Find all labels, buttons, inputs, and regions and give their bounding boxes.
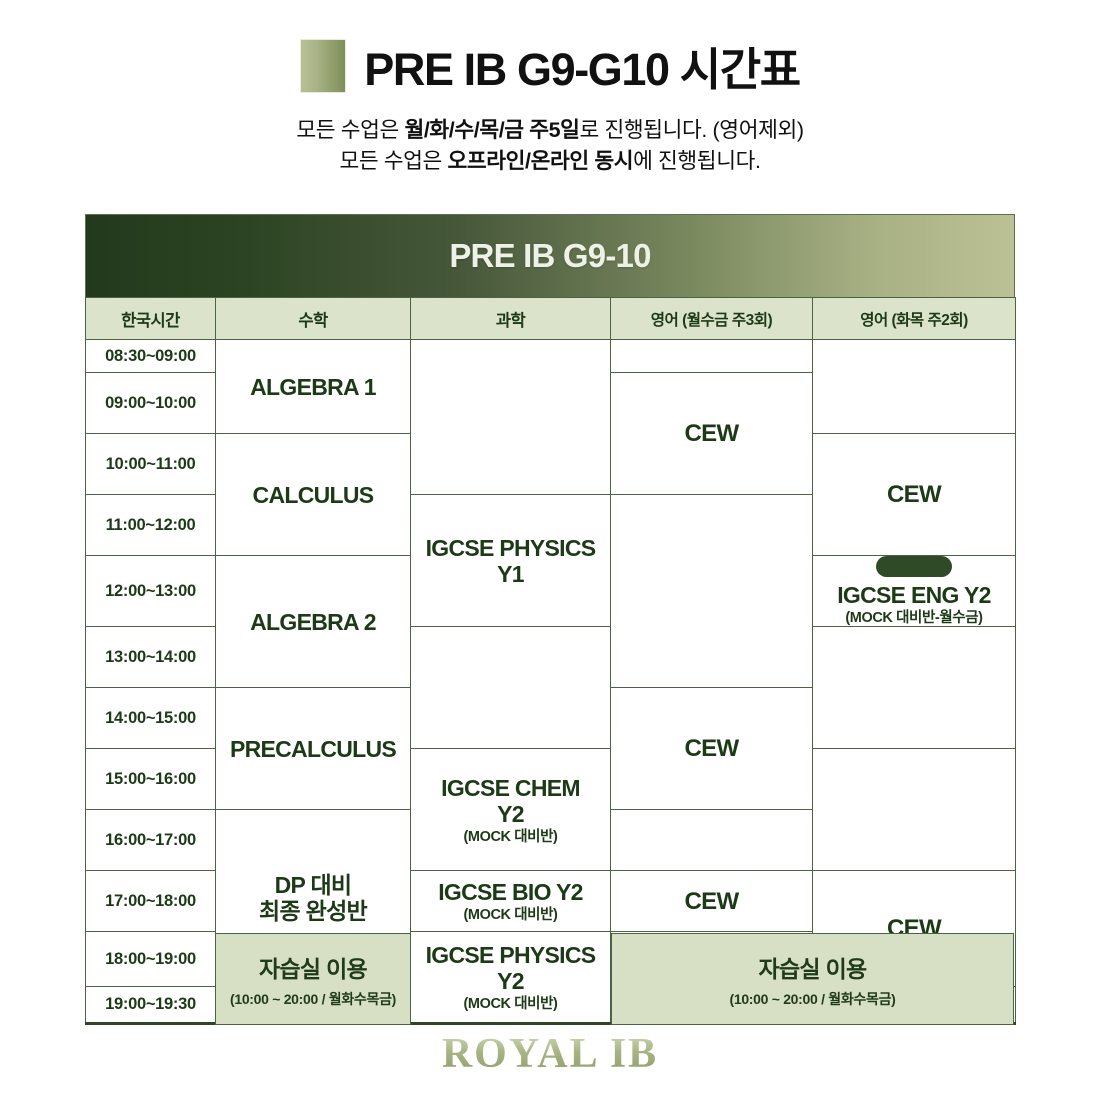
subtitle-1-part-c: 로 진행됩니다. (영어제외) [580,118,804,142]
brand-logo: ROYAL IB [442,1031,658,1077]
time-slot-2: 09:00~10:00 [86,373,216,434]
english-tt-empty-midday [813,627,1016,749]
column-header-english-tt: 영어 (화목 주2회) [813,298,1016,340]
science-physics-y2-line-2: Y2 [497,968,524,994]
time-slot-6: 13:00~14:00 [86,627,216,688]
subtitle-line-2: 모든 수업은 오프라인/온라인 동시에 진행됩니다. [0,146,1100,177]
column-header-time: 한국시간 [86,298,216,340]
subtitle-1-part-a: 모든 수업은 [296,118,404,142]
science-empty-morning [411,340,611,495]
self-study-english-label: 자습실 이용 [759,950,867,984]
page-title-row: PRE IB G9-G10 시간표 [0,0,1100,98]
time-slot-3: 10:00~11:00 [86,434,216,495]
science-empty-midday [411,627,611,749]
math-dp-line-2: 최종 완성반 [259,898,367,924]
time-slot-4: 11:00~12:00 [86,495,216,556]
english-mwf-cew-afternoon[interactable]: CEW [611,688,813,810]
time-slot-5: 12:00~13:00 [86,556,216,627]
english-mwf-cew-evening[interactable]: CEW [611,871,813,932]
science-physics-y2-note: (MOCK 대비반) [411,996,610,1012]
time-slot-7: 14:00~15:00 [86,688,216,749]
math-dp-line-1: DP 대비 [275,872,352,898]
self-study-math-label: 자습실 이용 [259,950,367,984]
logo-square-icon [300,39,346,93]
math-calculus[interactable]: CALCULUS [216,434,411,556]
science-igcse-physics-y1[interactable]: IGCSE PHYSICS Y1 [411,495,611,627]
self-study-math-note: (10:00 ~ 20:00 / 월화수목금) [230,989,396,1009]
science-physics-y1-line-1: IGCSE PHYSICS [426,535,596,561]
english-tt-empty-afternoon [813,749,1016,871]
self-study-english-columns[interactable]: 자습실 이용 (10:00 ~ 20:00 / 월화수목금) [611,933,1014,1025]
column-header-row: 한국시간 수학 과학 영어 (월수금 주3회) 영어 (화목 주2회) [86,298,1016,340]
subtitle-line-1: 모든 수업은 월/화/수/목/금 주5일로 진행됩니다. (영어제외) [0,115,1100,146]
highlight-pill-icon [876,556,952,577]
time-slot-11: 18:00~19:00 [86,932,216,987]
english-tt-igcse-eng-y2[interactable]: IGCSE ENG Y2 (MOCK 대비반-월수금) [813,556,1016,627]
science-bio-y2-note: (MOCK 대비반) [411,907,610,923]
time-slot-8: 15:00~16:00 [86,749,216,810]
science-igcse-physics-y2[interactable]: IGCSE PHYSICS Y2 (MOCK 대비반) [411,932,611,1024]
science-chem-y2-line-2: Y2 [497,801,524,827]
table-row: 08:30~09:00 ALGEBRA 1 [86,340,1016,373]
science-igcse-bio-y2[interactable]: IGCSE BIO Y2 (MOCK 대비반) [411,871,611,932]
footer: ROYAL IB [0,1030,1100,1078]
timetable-container: PRE IB G9-10 한국시간 수학 과학 영어 (월수금 주3회) 영어 … [85,214,1015,1025]
science-igcse-chem-y2[interactable]: IGCSE CHEM Y2 (MOCK 대비반) [411,749,611,871]
timetable-page: PRE IB G9-G10 시간표 모든 수업은 월/화/수/목/금 주5일로 … [0,0,1100,1100]
timetable-banner: PRE IB G9-10 [85,214,1015,297]
subtitle-2-emphasis: 오프라인/온라인 동시 [448,149,634,173]
science-physics-y1-line-2: Y1 [497,561,524,587]
time-slot-9: 16:00~17:00 [86,810,216,871]
page-subtitle: 모든 수업은 월/화/수/목/금 주5일로 진행됩니다. (영어제외) 모든 수… [0,115,1100,176]
science-chem-y2-note: (MOCK 대비반) [411,829,610,845]
english-tt-empty-early [813,340,1016,434]
subtitle-1-emphasis: 월/화/수/목/금 주5일 [404,118,579,142]
english-mwf-empty-early [611,340,813,373]
self-study-english-note: (10:00 ~ 20:00 / 월화수목금) [729,989,895,1009]
column-header-english-mwf: 영어 (월수금 주3회) [611,298,813,340]
time-slot-12: 19:00~19:30 [86,987,216,1024]
timetable-grid: 한국시간 수학 과학 영어 (월수금 주3회) 영어 (화목 주2회) 08:3… [85,297,1016,1025]
math-algebra-2[interactable]: ALGEBRA 2 [216,556,411,688]
english-mwf-cew-morning[interactable]: CEW [611,373,813,495]
self-study-math-column[interactable]: 자습실 이용 (10:00 ~ 20:00 / 월화수목금) [215,933,411,1025]
column-header-math: 수학 [216,298,411,340]
science-chem-y2-line-1: IGCSE CHEM [441,775,580,801]
math-algebra-1[interactable]: ALGEBRA 1 [216,340,411,434]
time-slot-1: 08:30~09:00 [86,340,216,373]
math-precalculus[interactable]: PRECALCULUS [216,688,411,810]
time-slot-10: 17:00~18:00 [86,871,216,932]
english-mwf-empty-midday [611,495,813,688]
english-tt-eng-y2-note: (MOCK 대비반-월수금) [813,610,1015,626]
column-header-science: 과학 [411,298,611,340]
subtitle-2-part-c: 에 진행됩니다. [633,149,760,173]
english-tt-cew-morning[interactable]: CEW [813,434,1016,556]
page-title: PRE IB G9-G10 시간표 [364,33,800,98]
subtitle-2-part-a: 모든 수업은 [339,149,447,173]
science-physics-y2-line-1: IGCSE PHYSICS [426,942,596,968]
english-tt-eng-y2-label: IGCSE ENG Y2 [837,582,991,608]
science-bio-y2-label: IGCSE BIO Y2 [438,879,583,905]
timetable-banner-label: PRE IB G9-10 [449,237,650,275]
english-mwf-empty-late [611,810,813,871]
